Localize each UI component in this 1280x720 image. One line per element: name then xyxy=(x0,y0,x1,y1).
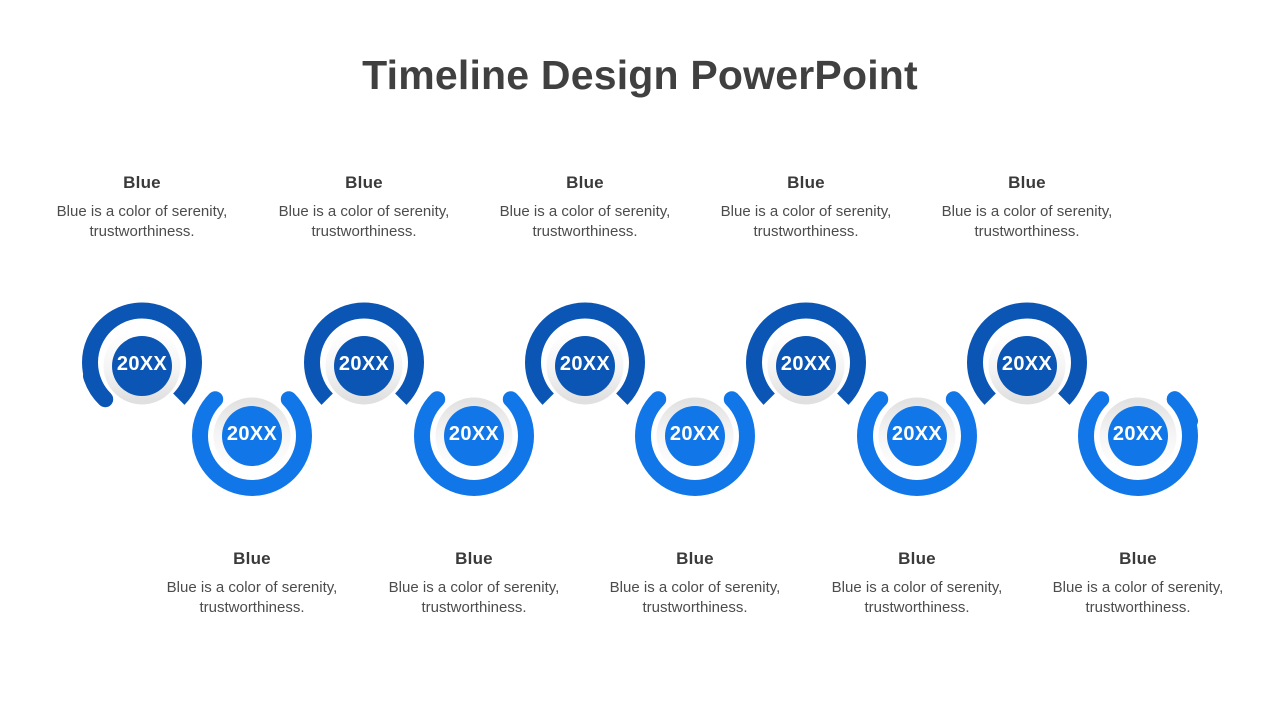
caption-title-node-8: Blue xyxy=(817,549,1017,569)
arc-right-tail xyxy=(1175,399,1190,421)
caption-node-9: Blue Blue is a color of serenity, trustw… xyxy=(927,173,1127,242)
caption-title-node-9: Blue xyxy=(927,173,1127,193)
caption-node-10: Blue Blue is a color of serenity, trustw… xyxy=(1038,549,1238,618)
year-label-node-7[interactable]: 20XX xyxy=(761,353,851,376)
year-label-node-8[interactable]: 20XX xyxy=(872,423,962,446)
caption-body-node-10: Blue is a color of serenity, trustworthi… xyxy=(1038,578,1238,618)
caption-body-node-1: Blue is a color of serenity, trustworthi… xyxy=(42,202,242,242)
caption-body-node-4: Blue is a color of serenity, trustworthi… xyxy=(374,578,574,618)
left-terminus xyxy=(91,376,105,399)
caption-title-node-4: Blue xyxy=(374,549,574,569)
caption-body-node-8: Blue is a color of serenity, trustworthi… xyxy=(817,578,1017,618)
year-label-node-1[interactable]: 20XX xyxy=(97,353,187,376)
arc-left-tail xyxy=(91,376,105,399)
caption-node-2: Blue Blue is a color of serenity, trustw… xyxy=(152,549,352,618)
caption-body-node-9: Blue is a color of serenity, trustworthi… xyxy=(927,202,1127,242)
caption-node-1: Blue Blue is a color of serenity, trustw… xyxy=(42,173,242,242)
year-label-node-10[interactable]: 20XX xyxy=(1093,423,1183,446)
caption-body-node-5: Blue is a color of serenity, trustworthi… xyxy=(485,202,685,242)
right-terminus xyxy=(1175,399,1190,421)
caption-node-8: Blue Blue is a color of serenity, trustw… xyxy=(817,549,1017,618)
caption-body-node-3: Blue is a color of serenity, trustworthi… xyxy=(264,202,464,242)
year-label-node-4[interactable]: 20XX xyxy=(429,423,519,446)
page-title: Timeline Design PowerPoint xyxy=(0,52,1280,99)
year-label-node-5[interactable]: 20XX xyxy=(540,353,630,376)
year-label-node-6[interactable]: 20XX xyxy=(650,423,740,446)
slide-canvas: Timeline Design PowerPoint xyxy=(0,0,1280,720)
year-label-node-3[interactable]: 20XX xyxy=(319,353,409,376)
caption-title-node-7: Blue xyxy=(706,173,906,193)
caption-title-node-2: Blue xyxy=(152,549,352,569)
caption-title-node-6: Blue xyxy=(595,549,795,569)
caption-node-3: Blue Blue is a color of serenity, trustw… xyxy=(264,173,464,242)
caption-title-node-3: Blue xyxy=(264,173,464,193)
caption-node-4: Blue Blue is a color of serenity, trustw… xyxy=(374,549,574,618)
caption-title-node-5: Blue xyxy=(485,173,685,193)
caption-body-node-7: Blue is a color of serenity, trustworthi… xyxy=(706,202,906,242)
year-label-node-9[interactable]: 20XX xyxy=(982,353,1072,376)
year-label-node-2[interactable]: 20XX xyxy=(207,423,297,446)
caption-node-7: Blue Blue is a color of serenity, trustw… xyxy=(706,173,906,242)
caption-title-node-10: Blue xyxy=(1038,549,1238,569)
caption-title-node-1: Blue xyxy=(42,173,242,193)
caption-body-node-2: Blue is a color of serenity, trustworthi… xyxy=(152,578,352,618)
caption-node-5: Blue Blue is a color of serenity, trustw… xyxy=(485,173,685,242)
caption-body-node-6: Blue is a color of serenity, trustworthi… xyxy=(595,578,795,618)
caption-node-6: Blue Blue is a color of serenity, trustw… xyxy=(595,549,795,618)
